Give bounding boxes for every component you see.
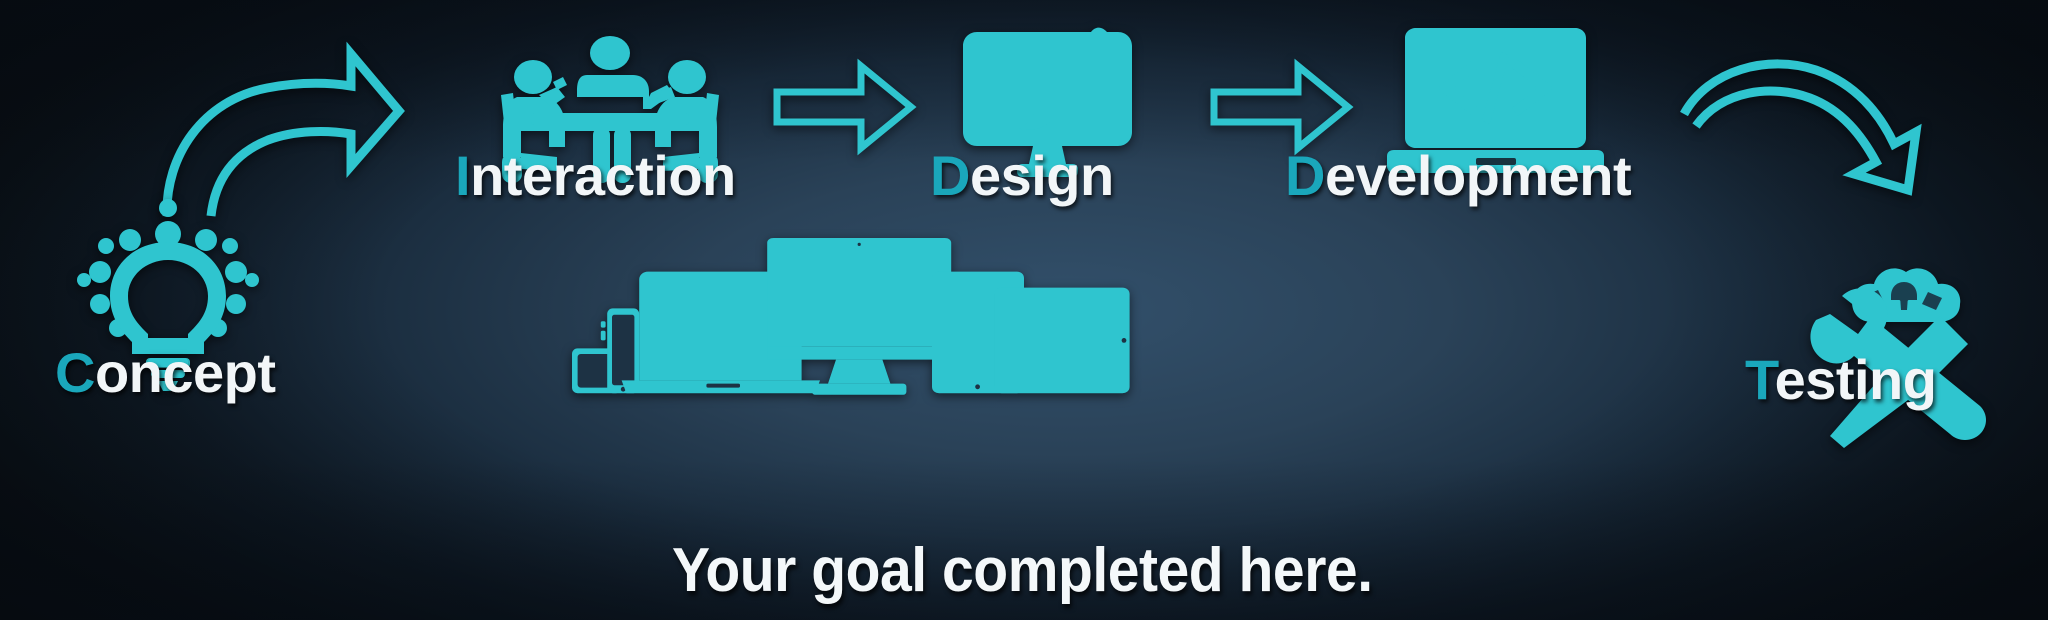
step-label-development: Development — [1285, 148, 1631, 204]
step-label-development-initial: D — [1285, 144, 1325, 207]
step-label-interaction-rest: nteraction — [470, 144, 736, 207]
multi-device-group-icon — [572, 238, 1132, 398]
step-label-design: Design — [930, 148, 1114, 204]
step-label-design-initial: D — [930, 144, 970, 207]
curved-arrow-down-right-icon — [1682, 52, 1922, 192]
process-infographic: Concept — [0, 0, 2048, 620]
step-label-development-rest: evelopment — [1325, 144, 1631, 207]
step-label-concept: Concept — [55, 345, 276, 401]
goal-caption: Your goal completed here. — [672, 540, 1373, 602]
step-label-testing-initial: T — [1745, 348, 1775, 411]
step-label-interaction-initial: I — [455, 144, 470, 207]
curved-arrow-up-right-icon — [155, 38, 405, 218]
step-label-concept-initial: C — [55, 341, 95, 404]
arrow-right-outline-icon — [775, 62, 915, 152]
step-label-testing-rest: esting — [1775, 348, 1937, 411]
lightbulb-dots-icon — [78, 198, 258, 358]
step-label-testing: Testing — [1745, 352, 1936, 408]
step-label-design-rest: esign — [970, 144, 1114, 207]
step-label-concept-rest: oncept — [95, 341, 276, 404]
step-label-interaction: Interaction — [455, 148, 736, 204]
arrow-right-outline-icon-2 — [1212, 62, 1352, 152]
